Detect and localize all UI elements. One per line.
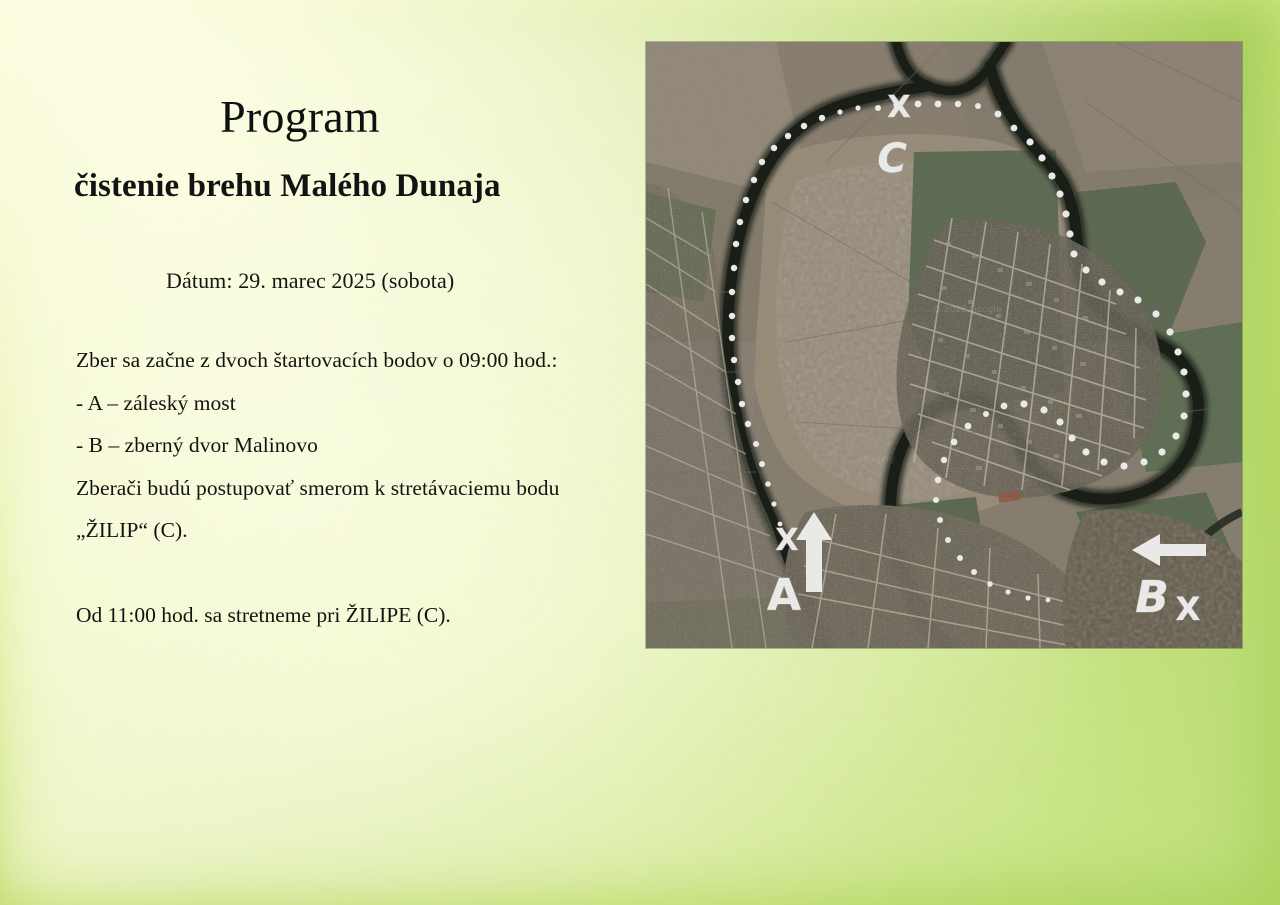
body-line-point-a: - A – záleský most — [76, 393, 636, 415]
body-line-route-1: Zberači budú postupovať smerom k stretáv… — [76, 478, 636, 500]
map-image: © 2025 Google Imagery — [646, 42, 1242, 648]
body-line-route-2: „ŽILIP“ (C). — [76, 520, 636, 542]
event-date: Dátum: 29. marec 2025 (sobota) — [166, 268, 454, 294]
body-line-intro: Zber sa začne z dvoch štartovacích bodov… — [76, 350, 636, 372]
page-subtitle: čistenie brehu Malého Dunaja — [74, 168, 501, 204]
body-line-point-b: - B – zberný dvor Malinovo — [76, 435, 636, 457]
body-line-closing: Od 11:00 hod. sa stretneme pri ŽILIPE (C… — [76, 603, 451, 628]
slide-canvas: Program čistenie brehu Malého Dunaja Dát… — [0, 0, 1280, 905]
text-column: Program čistenie brehu Malého Dunaja Dát… — [0, 0, 640, 905]
map-svg: © 2025 Google Imagery — [646, 42, 1242, 648]
page-title: Program — [0, 93, 600, 141]
body-text-block: Zber sa začne z dvoch štartovacích bodov… — [76, 350, 636, 563]
